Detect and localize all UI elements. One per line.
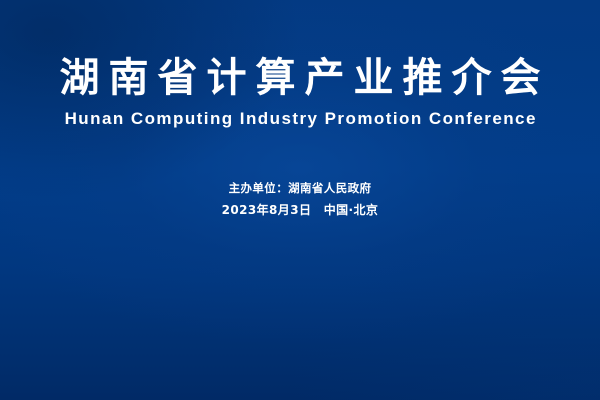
event-info-block: 主办单位：湖南省人民政府 2023年8月3日 中国·北京 <box>0 177 600 221</box>
title-block: 湖南省计算产业推介会 Hunan Computing Industry Prom… <box>0 55 600 130</box>
banner-content: 湖南省计算产业推介会 Hunan Computing Industry Prom… <box>0 0 600 400</box>
date-location-line: 2023年8月3日 中国·北京 <box>0 199 600 221</box>
conference-banner: 湖南省计算产业推介会 Hunan Computing Industry Prom… <box>0 0 600 400</box>
organizer-line: 主办单位：湖南省人民政府 <box>0 177 600 199</box>
conference-title-chinese: 湖南省计算产业推介会 <box>0 55 600 101</box>
conference-title-english: Hunan Computing Industry Promotion Confe… <box>0 108 600 130</box>
